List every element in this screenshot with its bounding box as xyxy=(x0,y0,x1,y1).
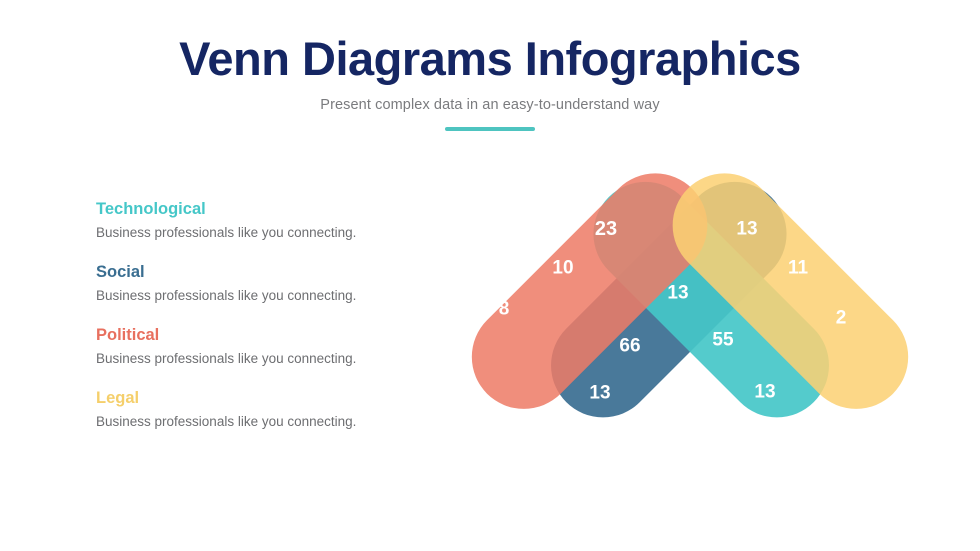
venn-value-legal-bottom: 12 xyxy=(665,460,686,481)
venn-value-legal-only: 2 xyxy=(836,308,847,329)
legend-list: Technological Business professionals lik… xyxy=(96,200,426,431)
venn-value-political-legal-left: 13 xyxy=(589,383,610,404)
legend-item-political[interactable]: Political Business professionals like yo… xyxy=(96,326,426,368)
venn-value-legal-overlap-low: 33 xyxy=(701,433,722,454)
legend-item-legal[interactable]: Legal Business professionals like you co… xyxy=(96,389,426,431)
venn-value-political-social: 10 xyxy=(552,258,573,279)
venn-value-social-only: 23 xyxy=(595,218,617,240)
venn-value-technological-legal: 11 xyxy=(788,258,809,279)
venn-value-political-legal-low: 89 xyxy=(626,419,647,440)
legend-item-description: Business professionals like you connecti… xyxy=(96,288,426,305)
page-title: Venn Diagrams Infographics xyxy=(0,34,980,85)
legend-item-social[interactable]: Social Business professionals like you c… xyxy=(96,263,426,305)
venn-value-technological-only: 13 xyxy=(736,219,757,240)
legend-item-description: Business professionals like you connecti… xyxy=(96,414,426,431)
venn-value-technological-legal-mid: 55 xyxy=(712,330,734,351)
venn-value-political-social-mid: 66 xyxy=(619,336,640,357)
page-subtitle: Present complex data in an easy-to-under… xyxy=(0,97,980,113)
infographic-slide: Venn Diagrams Infographics Present compl… xyxy=(0,0,980,551)
legend-item-label: Legal xyxy=(96,389,426,407)
legend-item-label: Political xyxy=(96,326,426,344)
legend-item-technological[interactable]: Technological Business professionals lik… xyxy=(96,200,426,242)
legend-item-label: Technological xyxy=(96,200,426,218)
venn-value-political-only: 8 xyxy=(499,299,510,320)
venn-value-technological-legal-low: 13 xyxy=(754,382,775,403)
venn-value-center-all: 12 xyxy=(667,380,688,401)
accent-divider xyxy=(445,127,535,131)
venn-diagram: 8 10 23 13 13 11 2 66 55 13 12 13 89 33 … xyxy=(460,150,920,520)
venn-value-social-technological: 13 xyxy=(667,283,688,304)
legend-item-description: Business professionals like you connecti… xyxy=(96,351,426,368)
header: Venn Diagrams Infographics Present compl… xyxy=(0,34,980,131)
legend-item-description: Business professionals like you connecti… xyxy=(96,225,426,242)
legend-item-label: Social xyxy=(96,263,426,281)
